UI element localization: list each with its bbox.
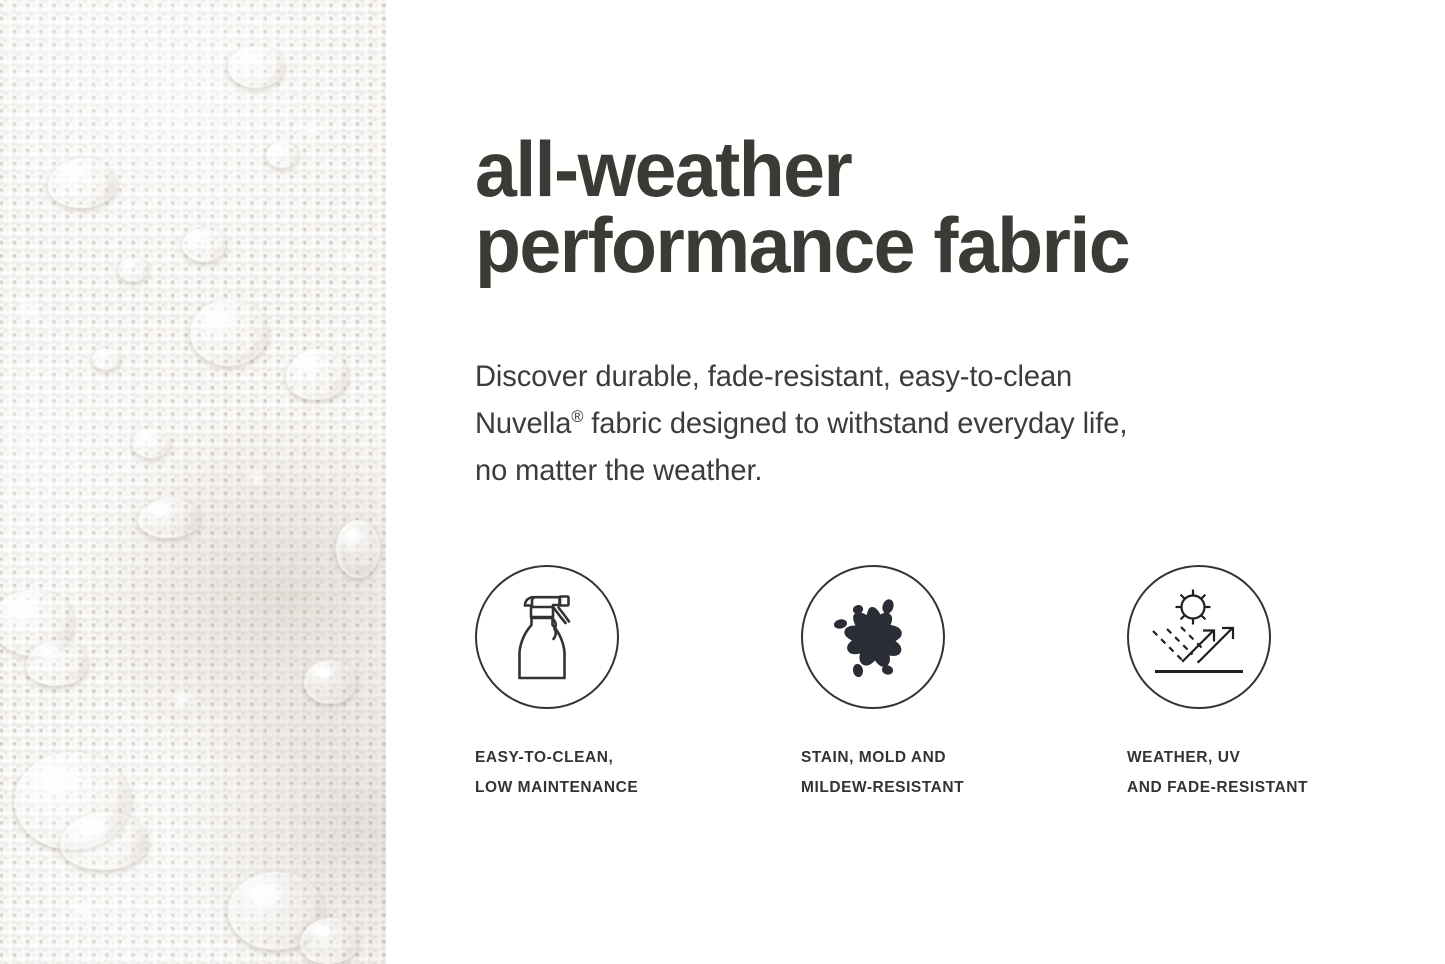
fabric-photo bbox=[0, 0, 386, 964]
water-droplet bbox=[48, 158, 116, 208]
subhead-line-1: Discover durable, fade-resistant, easy-t… bbox=[475, 360, 1072, 393]
water-droplet bbox=[118, 258, 148, 282]
water-mist-speck bbox=[70, 900, 96, 920]
content-panel: all-weather performance fabric Discover … bbox=[386, 0, 1445, 964]
feature-label: WEATHER, UV AND FADE-RESISTANT bbox=[1127, 743, 1445, 803]
water-droplet bbox=[182, 228, 226, 262]
water-droplet bbox=[336, 520, 380, 578]
subhead-line-2: fabric designed to withstand everyday li… bbox=[583, 407, 1127, 440]
water-mist-speck bbox=[340, 250, 358, 265]
sun-uv-reflect-icon bbox=[1127, 565, 1271, 709]
water-droplet bbox=[286, 348, 348, 400]
water-droplet bbox=[300, 918, 358, 964]
water-droplet bbox=[190, 300, 268, 366]
subhead-description: Discover durable, fade-resistant, easy-t… bbox=[475, 353, 1329, 494]
subhead-brand-name: Nuvella bbox=[475, 407, 571, 440]
water-droplet bbox=[304, 660, 356, 704]
water-droplet bbox=[92, 348, 120, 370]
water-mist-speck bbox=[170, 690, 194, 708]
water-droplet bbox=[228, 46, 284, 88]
subhead-line-3: no matter the weather. bbox=[475, 454, 762, 487]
feature-stain-resistant: STAIN, MOLD AND MILDEW-RESISTANT bbox=[801, 565, 1127, 803]
water-droplet bbox=[266, 142, 298, 168]
water-droplet bbox=[26, 640, 88, 686]
spray-bottle-icon bbox=[475, 565, 619, 709]
feature-row: EASY-TO-CLEAN, LOW MAINTENANCE bbox=[475, 565, 1445, 803]
water-mist-speck bbox=[246, 470, 266, 486]
water-mist-speck bbox=[300, 120, 322, 138]
water-droplet bbox=[138, 498, 200, 538]
feature-label: EASY-TO-CLEAN, LOW MAINTENANCE bbox=[475, 743, 801, 803]
registered-trademark-icon: ® bbox=[571, 407, 583, 426]
water-droplet bbox=[60, 812, 148, 870]
all-weather-fabric-banner: all-weather performance fabric Discover … bbox=[0, 0, 1445, 964]
page-title: all-weather performance fabric bbox=[475, 131, 1363, 283]
feature-easy-to-clean: EASY-TO-CLEAN, LOW MAINTENANCE bbox=[475, 565, 801, 803]
water-mist-speck bbox=[16, 300, 42, 320]
feature-weather-uv-resistant: WEATHER, UV AND FADE-RESISTANT bbox=[1127, 565, 1445, 803]
stain-splat-icon bbox=[801, 565, 945, 709]
feature-label: STAIN, MOLD AND MILDEW-RESISTANT bbox=[801, 743, 1127, 803]
water-droplet bbox=[132, 428, 170, 458]
